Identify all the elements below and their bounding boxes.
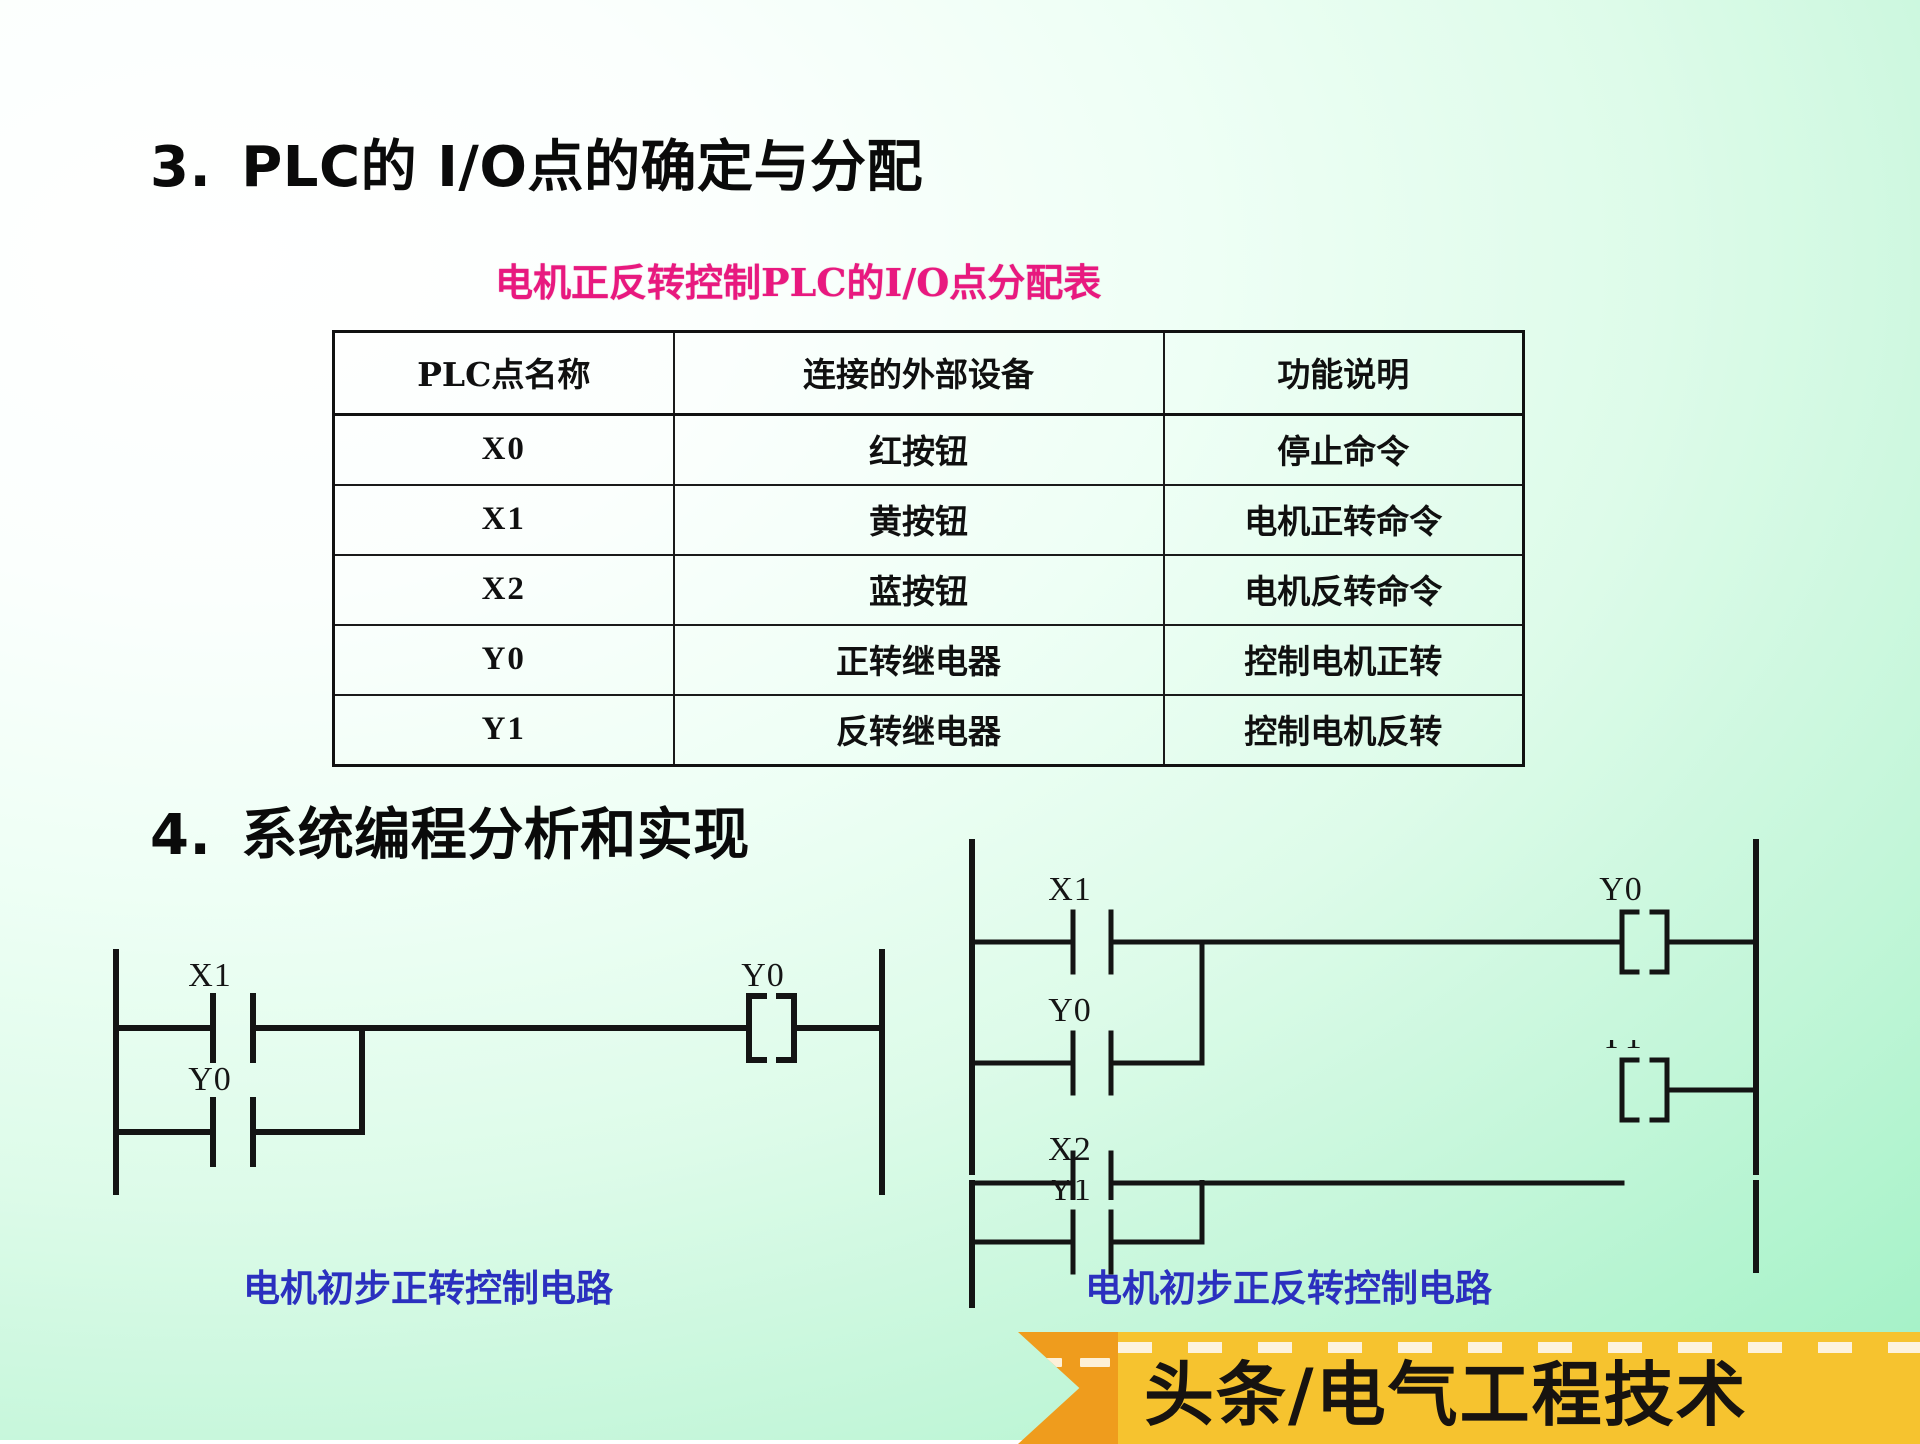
table-row: X1 黄按钮 电机正转命令 [334, 485, 1524, 555]
caption-right-ladder: 电机初步正反转控制电路 [1085, 1258, 1492, 1312]
section-4-number: 4. [150, 803, 211, 868]
ladder-diagram-left: X1 Y0 Y0 [70, 930, 930, 1220]
cell-device: 正转继电器 [674, 625, 1164, 695]
caption-left-ladder: 电机初步正转控制电路 [243, 1258, 613, 1312]
table-row: Y0 正转继电器 控制电机正转 [334, 625, 1524, 695]
cell-device: 黄按钮 [674, 485, 1164, 555]
cell-point: Y0 [334, 625, 674, 695]
cell-function: 电机反转命令 [1164, 555, 1524, 625]
cell-function: 停止命令 [1164, 415, 1524, 486]
contact-label-x1: X1 [188, 957, 232, 994]
cell-device: 反转继电器 [674, 695, 1164, 766]
cell-function: 控制电机反转 [1164, 695, 1524, 766]
contact-label-y0: Y0 [1048, 992, 1092, 1029]
ladder-diagram-right-mid: X2 Y1 [930, 1040, 1810, 1200]
coil-y1-bracket-left [1622, 1060, 1637, 1120]
watermark-ribbon: 头条/电气工程技术 [1018, 1332, 1920, 1444]
slide-canvas: 3.PLC的 I/O点的确定与分配 电机正反转控制PLC的I/O点分配表 PLC… [0, 0, 1920, 1440]
section-3-title: PLC的 I/O点的确定与分配 [241, 135, 923, 200]
column-header-function: 功能说明 [1164, 332, 1524, 415]
section-3-number: 3. [150, 135, 211, 200]
cell-point: Y1 [334, 695, 674, 766]
table-row: X0 红按钮 停止命令 [334, 415, 1524, 486]
cell-point: X2 [334, 555, 674, 625]
column-header-point: PLC点名称 [334, 332, 674, 415]
cell-device: 红按钮 [674, 415, 1164, 486]
cell-function: 电机正转命令 [1164, 485, 1524, 555]
contact-label-y0: Y0 [188, 1061, 232, 1098]
table-caption: 电机正反转控制PLC的I/O点分配表 [495, 252, 1101, 307]
watermark-text: 头条/电气工程技术 [1118, 1352, 1920, 1438]
coil-label-y0: Y0 [1599, 871, 1643, 908]
watermark-ribbon-body: 头条/电气工程技术 [1118, 1332, 1920, 1444]
cell-device: 蓝按钮 [674, 555, 1164, 625]
ribbon-dash [1032, 1358, 1062, 1367]
section-4-title: 系统编程分析和实现 [241, 803, 750, 868]
cell-function: 控制电机正转 [1164, 625, 1524, 695]
table-header-row: PLC点名称 连接的外部设备 功能说明 [334, 332, 1524, 415]
cell-point: X1 [334, 485, 674, 555]
section-4-heading: 4.系统编程分析和实现 [150, 790, 750, 871]
io-allocation-table: PLC点名称 连接的外部设备 功能说明 X0 红按钮 停止命令 X1 黄按钮 电… [332, 330, 1525, 767]
coil-label-y1: Y1 [1599, 1040, 1643, 1056]
table-row: Y1 反转继电器 控制电机反转 [334, 695, 1524, 766]
contact-label-x1: X1 [1048, 871, 1092, 908]
coil-label-y0: Y0 [741, 957, 785, 994]
coil-y0-bracket-left [1622, 912, 1637, 972]
ribbon-dash [1080, 1358, 1110, 1367]
coil-y0-bracket-left [749, 996, 764, 1060]
table-row: X2 蓝按钮 电机反转命令 [334, 555, 1524, 625]
cell-point: X0 [334, 415, 674, 486]
contact-label-x2: X2 [1048, 1131, 1092, 1168]
column-header-device: 连接的外部设备 [674, 332, 1164, 415]
section-3-heading: 3.PLC的 I/O点的确定与分配 [150, 122, 923, 203]
